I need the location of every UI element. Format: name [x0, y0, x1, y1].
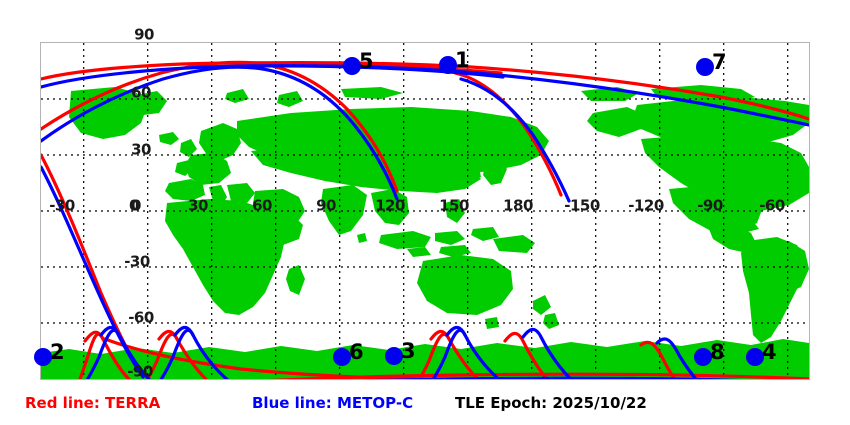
satellite-label-3: 3: [401, 341, 416, 362]
ground-track-map-page: 90 60 30 0 -30 -60 -90 -30 0 30 60 90 12…: [0, 0, 850, 425]
lon-tick-minus-150: -150: [564, 199, 600, 214]
lon-tick-minus-30: -30: [49, 199, 75, 214]
lon-tick-30: 30: [188, 199, 208, 214]
satellite-label-4: 4: [762, 342, 777, 363]
metopc-track: [41, 66, 809, 377]
legend-tle-epoch: TLE Epoch: 2025/10/22: [455, 396, 647, 411]
lat-tick-minus-30: -30: [124, 255, 150, 270]
lat-tick-90: 90: [134, 28, 154, 43]
map-plot-area: [40, 42, 810, 380]
satellite-label-6: 6: [349, 342, 364, 363]
lat-tick-minus-90: -90: [127, 365, 153, 380]
legend-blue-line: Blue line: METOP-C: [252, 396, 413, 411]
terra-track: [41, 62, 809, 379]
legend: Red line: TERRA Blue line: METOP-C TLE E…: [0, 392, 850, 420]
lat-tick-30: 30: [131, 143, 151, 158]
lon-tick-150: 150: [439, 199, 469, 214]
lat-tick-minus-60: -60: [128, 311, 154, 326]
lon-tick-90: 90: [316, 199, 336, 214]
satellite-label-2: 2: [50, 342, 65, 363]
satellite-label-5: 5: [359, 51, 374, 72]
lon-tick-0: 0: [129, 199, 139, 214]
lon-tick-minus-90: -90: [697, 199, 723, 214]
satellite-label-7: 7: [712, 52, 727, 73]
satellite-label-1: 1: [455, 50, 470, 71]
lon-tick-120: 120: [375, 199, 405, 214]
lon-tick-minus-120: -120: [628, 199, 664, 214]
satellite-ground-tracks: [41, 43, 809, 379]
lon-tick-minus-60: -60: [759, 199, 785, 214]
lat-tick-60: 60: [131, 86, 151, 101]
lon-tick-180: 180: [503, 199, 533, 214]
satellite-label-8: 8: [710, 342, 725, 363]
lon-tick-60: 60: [252, 199, 272, 214]
legend-red-line: Red line: TERRA: [25, 396, 160, 411]
